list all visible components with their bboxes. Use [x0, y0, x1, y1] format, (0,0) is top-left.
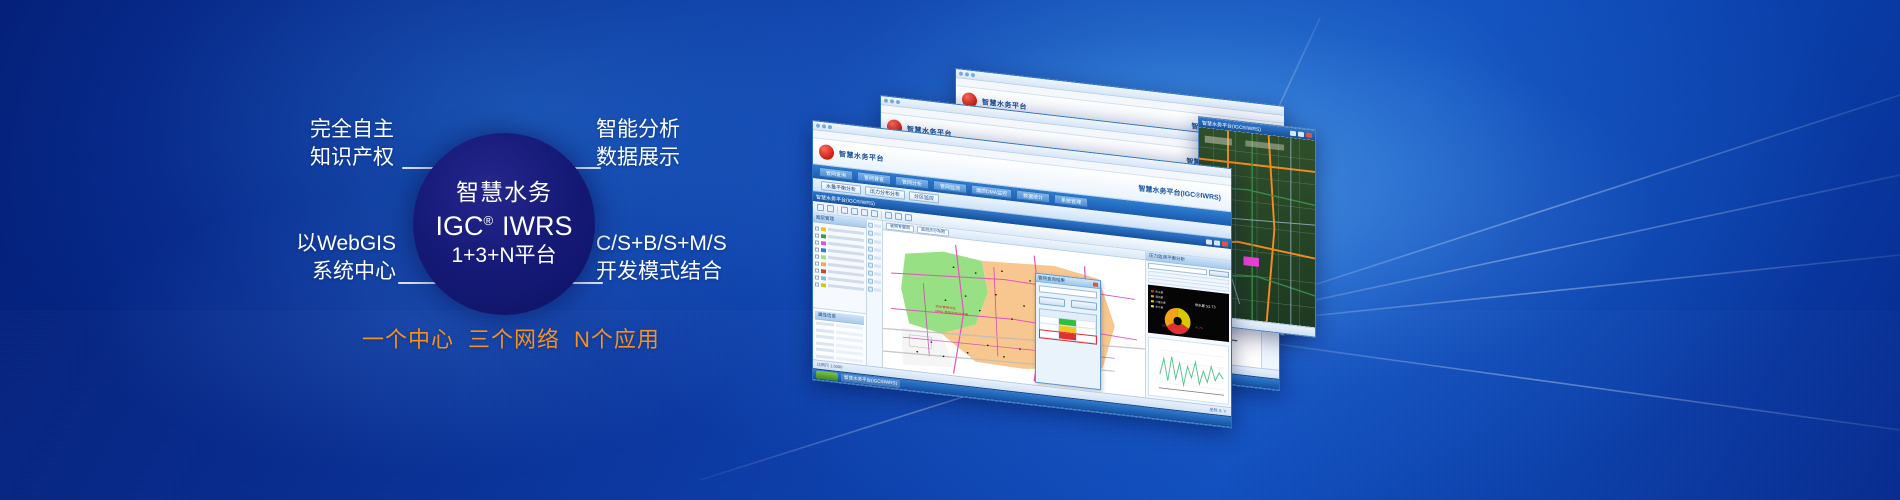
registered-mark-icon: ® — [483, 213, 493, 228]
query-cancel-button[interactable] — [1071, 300, 1097, 311]
feature-label-top-right: 智能分析 数据展示 — [596, 116, 776, 171]
analysis-panel-front[interactable]: 压力监测平衡分析 售水量 漏损量 — [1145, 251, 1231, 407]
query-ok-button[interactable] — [1039, 296, 1065, 307]
save-icon[interactable] — [827, 205, 834, 213]
feature-line-1: 智能分析 — [596, 116, 776, 144]
layer-panel-front[interactable]: 图层管理 属性信息 — [813, 213, 867, 365]
start-button-icon[interactable] — [816, 370, 838, 381]
layer-tree-front[interactable] — [813, 222, 866, 313]
subnav-item-fenqu-jiankong[interactable]: 分区监控 — [909, 191, 939, 203]
feature-line-2: 数据展示 — [596, 144, 776, 172]
maximize-icon — [1298, 131, 1304, 137]
tool-item[interactable] — [868, 221, 881, 229]
tool-item[interactable] — [868, 237, 881, 245]
tool-item[interactable] — [868, 245, 881, 253]
center-product: IWRS — [502, 211, 573, 241]
close-icon — [1222, 241, 1228, 247]
open-icon[interactable] — [817, 204, 824, 212]
app-title-front: 智慧水务平台(IGC®IWRS) — [1138, 183, 1221, 202]
window-dots-icon — [884, 98, 900, 104]
tool-item[interactable] — [868, 277, 881, 285]
minimize-icon — [1206, 239, 1212, 245]
tool-item[interactable] — [868, 261, 881, 269]
map-canvas-front[interactable]: 管网专题图 监测点分布图 — [883, 221, 1145, 397]
tool-item[interactable] — [868, 269, 881, 277]
identify-icon[interactable] — [895, 213, 902, 221]
tool-item[interactable] — [868, 285, 881, 293]
tool-item[interactable] — [868, 253, 881, 261]
close-icon — [1306, 132, 1312, 138]
close-icon[interactable] — [1093, 282, 1098, 287]
feature-label-bottom-right: C/S+B/S+M/S 开发模式结合 — [596, 230, 796, 285]
feature-label-bottom-left: 以WebGIS 系统中心 — [240, 230, 396, 285]
trend-chart-graphic — [1149, 338, 1228, 404]
print-icon[interactable] — [905, 214, 912, 222]
tool-item[interactable] — [868, 229, 881, 237]
app-window-front[interactable]: 智慧水务平台 智慧水务平台(IGC®IWRS) 管网查询 管网普查 管网分析 管… — [812, 120, 1232, 428]
tagline-part-3: N个应用 — [574, 327, 660, 352]
window-controls[interactable] — [1290, 130, 1312, 138]
tool-strip-front[interactable] — [867, 219, 883, 367]
center-badge-subtitle: 1+3+N平台 — [451, 243, 556, 268]
window-dots-icon — [959, 71, 975, 77]
tagline-part-2: 三个网络 — [468, 327, 560, 352]
zoom-out-icon[interactable] — [861, 209, 868, 217]
select-icon[interactable] — [871, 210, 878, 218]
pan-icon[interactable] — [841, 206, 848, 214]
query-dialog[interactable]: 管网查询结果 — [1035, 273, 1101, 391]
measure-icon[interactable] — [885, 211, 892, 219]
feature-line-2: 系统中心 — [240, 258, 396, 286]
pie-chart-panel: 售水量 漏损量 计量水量 未计量 供水量 52.73 — [1148, 285, 1229, 342]
feature-label-top-left: 完全自主 知识产权 — [264, 116, 394, 171]
tagline: 一个中心三个网络N个应用 — [362, 322, 660, 354]
mini-trend-chart — [1148, 337, 1229, 405]
center-brand: IGC — [435, 211, 483, 241]
minimize-icon — [1290, 130, 1296, 136]
zoom-in-icon[interactable] — [851, 207, 858, 215]
tagline-part-1: 一个中心 — [362, 327, 454, 352]
center-badge: 智慧水务 IGC®IWRS 1+3+N平台 — [413, 133, 595, 315]
window-dots-icon — [816, 123, 832, 129]
query-results-table[interactable] — [1039, 308, 1097, 345]
feature-line-2: 开发模式结合 — [596, 258, 796, 286]
company-logo-icon — [819, 144, 834, 161]
feature-line-1: 以WebGIS — [240, 230, 396, 258]
center-badge-cn-title: 智慧水务 — [456, 180, 552, 205]
property-panel-front[interactable]: 属性信息 — [813, 307, 866, 365]
feature-line-1: 完全自主 — [264, 116, 394, 144]
feature-line-1: C/S+B/S+M/S — [596, 230, 796, 258]
feature-line-2: 知识产权 — [264, 144, 394, 172]
center-badge-en-title: IGC®IWRS — [435, 211, 572, 242]
banner-root: 智慧水务平台 智慧水务平台(IGC®IWRS) — [0, 0, 1900, 500]
window-controls-front[interactable] — [1206, 239, 1228, 247]
maximize-icon — [1214, 240, 1220, 246]
brand-name-front: 智慧水务平台 — [839, 149, 884, 164]
query-dialog-body — [1036, 282, 1100, 348]
filter-button[interactable] — [1209, 270, 1229, 278]
water-balance-pie-chart: 售水量 漏损量 计量水量 未计量 供水量 52.73 — [1148, 285, 1229, 342]
